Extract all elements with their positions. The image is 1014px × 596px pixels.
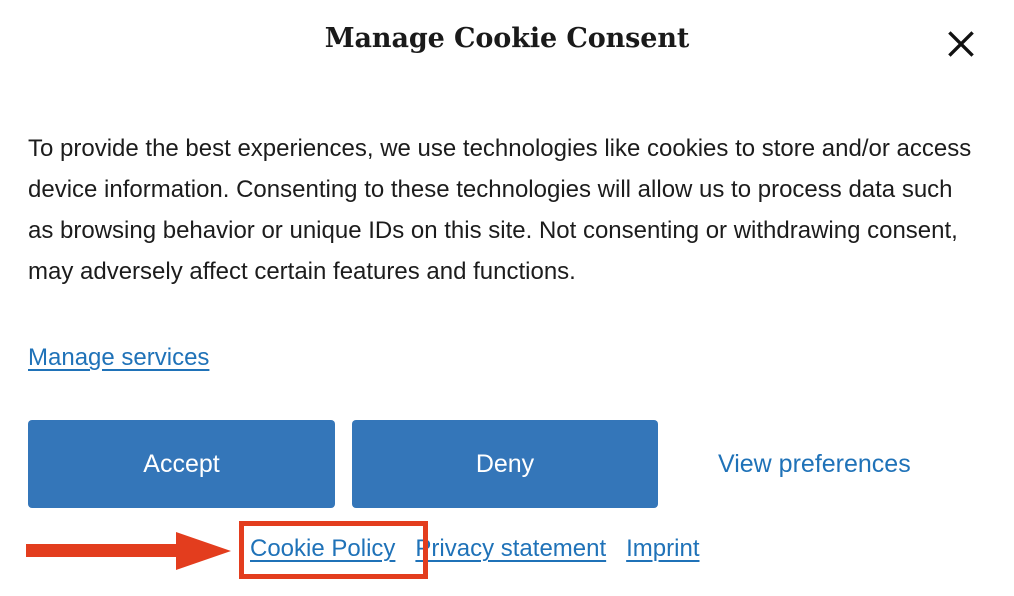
footer-links: Cookie Policy Privacy statement Imprint [250, 532, 700, 568]
close-x-icon [946, 29, 976, 59]
dialog-actions: Accept Deny View preferences [28, 420, 988, 510]
accept-button[interactable]: Accept [28, 420, 335, 508]
page-title: Manage Cookie Consent [0, 21, 1014, 57]
privacy-statement-link[interactable]: Privacy statement [415, 532, 606, 565]
dialog-description: To provide the best experiences, we use … [28, 128, 980, 292]
right-arrow-annotation-icon [26, 532, 231, 570]
dialog-header: Manage Cookie Consent [0, 0, 1014, 88]
cookie-consent-dialog: Manage Cookie Consent To provide the bes… [0, 0, 1014, 596]
view-preferences-link[interactable]: View preferences [718, 447, 911, 481]
close-button[interactable] [938, 21, 984, 67]
manage-services-link[interactable]: Manage services [28, 341, 209, 374]
deny-button[interactable]: Deny [352, 420, 658, 508]
cookie-policy-link[interactable]: Cookie Policy [250, 532, 395, 565]
imprint-link[interactable]: Imprint [626, 532, 699, 565]
